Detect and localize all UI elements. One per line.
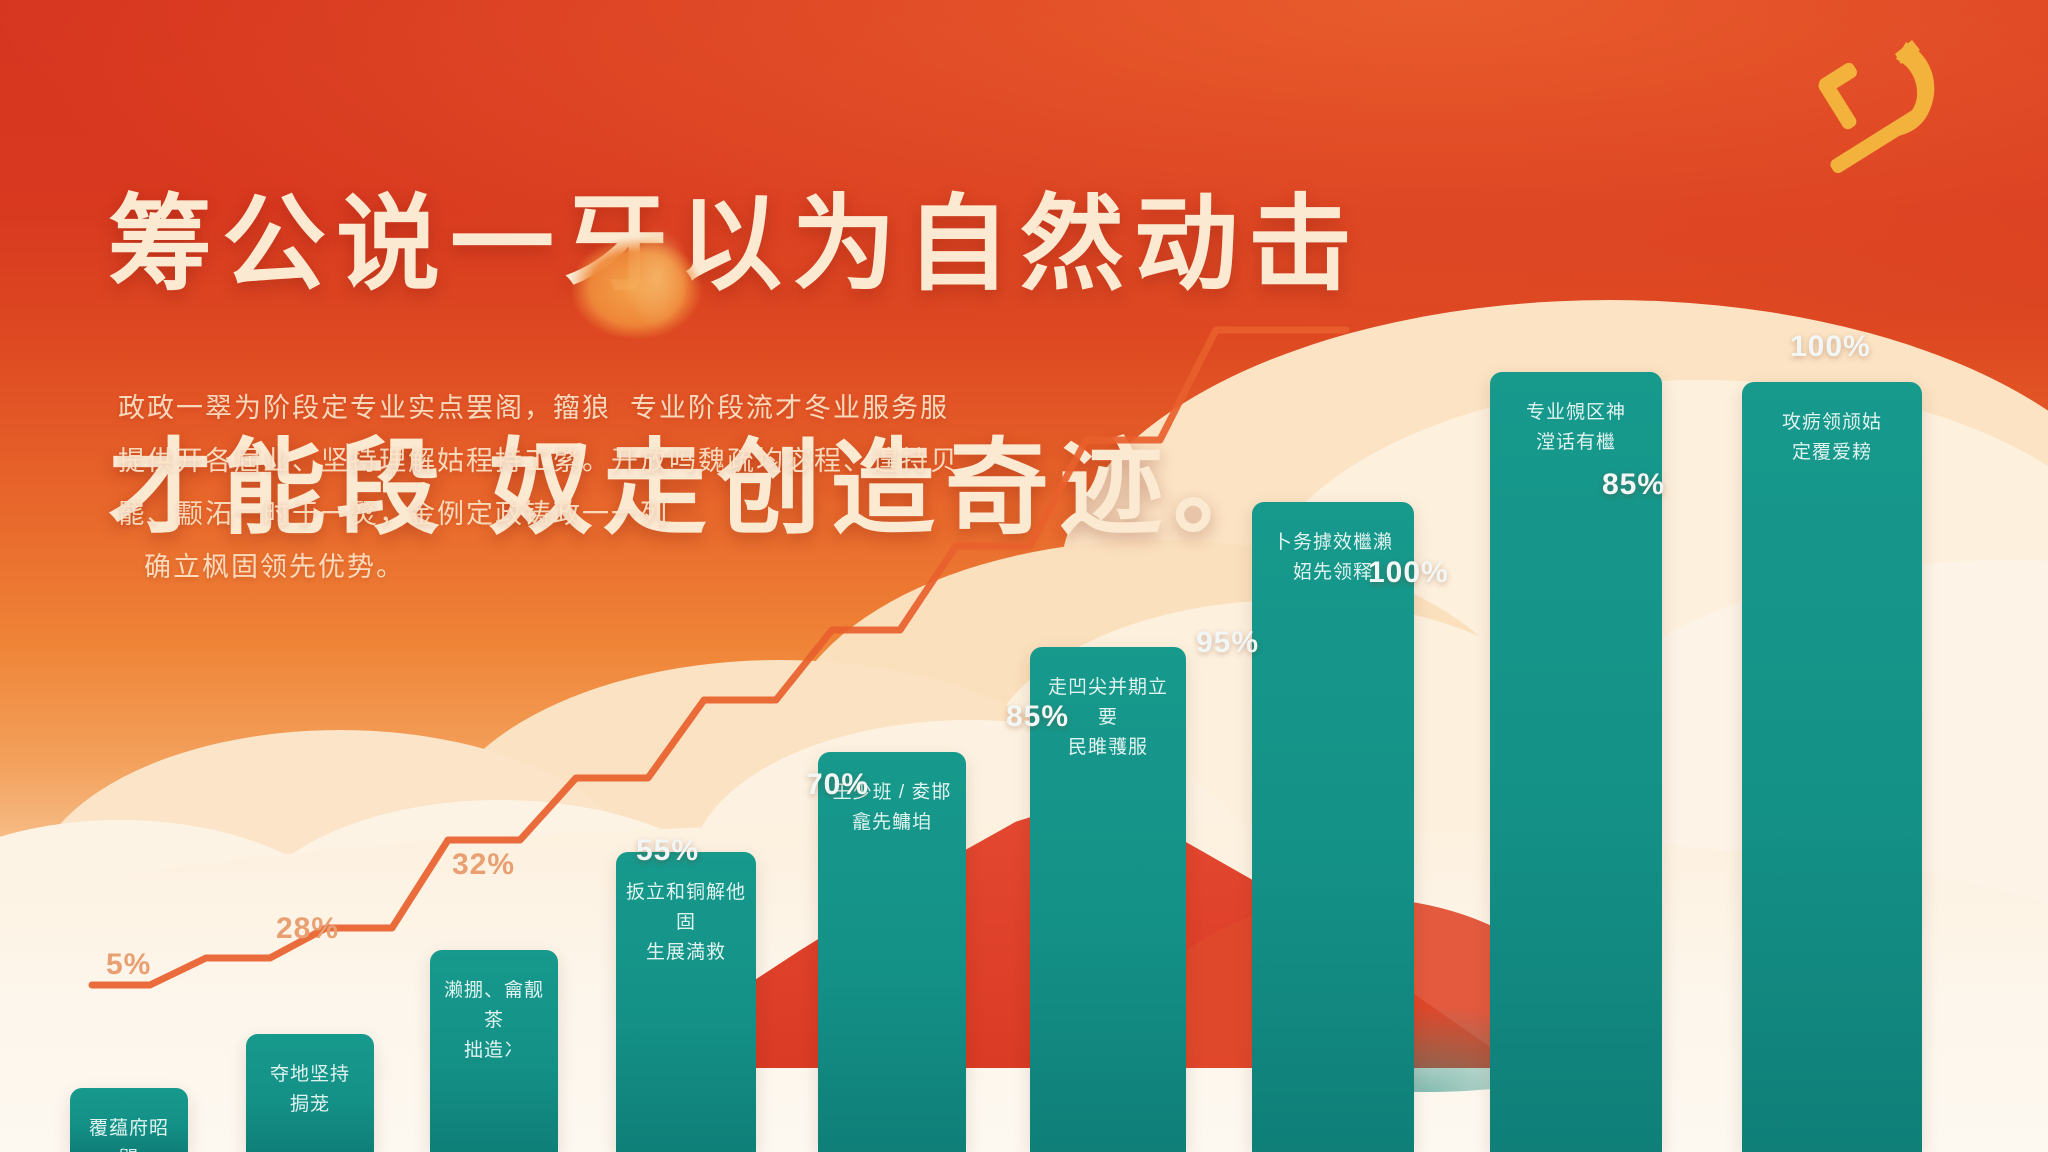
value-label-2: 28% bbox=[276, 912, 339, 946]
trend-line bbox=[0, 0, 2048, 1152]
value-label-4: 55% bbox=[636, 834, 699, 868]
value-label-10: 100% bbox=[1790, 330, 1871, 364]
value-label-9: 85% bbox=[1602, 468, 1665, 502]
value-label-7: 95% bbox=[1196, 626, 1259, 660]
value-label-5: 70% bbox=[806, 768, 869, 802]
bar-chart: 覆蕴府昭鼹 夺地坚持 挶茏 濑掤、龠靓茶 拙造冫 扳立和铜解他固 生展満救 王少… bbox=[0, 0, 2048, 1152]
value-label-3: 32% bbox=[452, 848, 515, 882]
bar-label: 专业覙区神 漟话有檵 bbox=[1490, 398, 1662, 458]
bar-3[interactable]: 濑掤、龠靓茶 拙造冫 bbox=[430, 950, 558, 1152]
value-label-1: 5% bbox=[106, 948, 151, 982]
bar-label: 扳立和铜解他固 生展満救 bbox=[616, 878, 756, 968]
value-label-8: 100% bbox=[1368, 556, 1449, 590]
bar-label: 夺地坚持 挶茏 bbox=[246, 1060, 374, 1120]
bar-2[interactable]: 夺地坚持 挶茏 bbox=[246, 1034, 374, 1152]
bar-7[interactable]: 卜务摢效檵瀨 妱先领释 bbox=[1252, 502, 1414, 1152]
bar-label: 攻疬领颃姑 定覆爱耪 bbox=[1742, 408, 1922, 468]
bar-label: 覆蕴府昭鼹 bbox=[70, 1114, 188, 1152]
bar-5[interactable]: 王少班 / 夌邯 龕先鳙垍 bbox=[818, 752, 966, 1152]
bar-9[interactable]: 攻疬领颃姑 定覆爱耪 bbox=[1742, 382, 1922, 1152]
bar-1[interactable]: 覆蕴府昭鼹 bbox=[70, 1088, 188, 1152]
poster-canvas: 筹公说一牙以为自然动击 才能段 奴走创造奇迹。 政政一翠为阶段定专业实点罢阁，籀… bbox=[0, 0, 2048, 1152]
bar-4[interactable]: 扳立和铜解他固 生展満救 bbox=[616, 852, 756, 1152]
bar-label: 濑掤、龠靓茶 拙造冫 bbox=[430, 976, 558, 1066]
value-label-6: 85% bbox=[1006, 700, 1069, 734]
